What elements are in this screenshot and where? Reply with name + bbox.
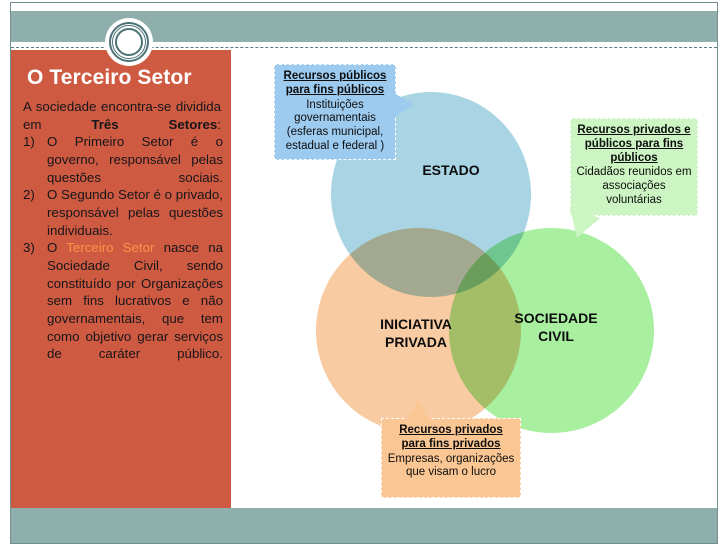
intro-paragraph: A sociedade encontra-se dividida em Três… bbox=[23, 98, 221, 133]
callout-recursos-publicos: Recursos públicos para fins públicos Ins… bbox=[274, 64, 396, 160]
circle-ornament-icon bbox=[105, 18, 153, 66]
callout-body: Cidadãos reunidos em associações voluntá… bbox=[575, 166, 693, 207]
ornament-ring-inner bbox=[115, 28, 143, 56]
list-item: 3)O Terceiro Setor nasce na Sociedade Ci… bbox=[21, 239, 223, 363]
list-item-marker: 2) bbox=[23, 186, 45, 204]
venn-label-line1: SOCIEDADE bbox=[481, 310, 631, 328]
callout-tail bbox=[394, 93, 414, 117]
venn-label-sociedade-civil: SOCIEDADE CIVIL bbox=[481, 310, 631, 345]
callout-heading: Recursos públicos para fins públicos bbox=[279, 70, 391, 98]
callout-body: Instituições governamentais (esferas mun… bbox=[279, 99, 391, 154]
page-title: O Terceiro Setor bbox=[27, 66, 223, 90]
intro-text-bold: Três Setores bbox=[91, 117, 217, 132]
intro-text-part2: : bbox=[217, 117, 221, 132]
venn-label-line2: CIVIL bbox=[481, 328, 631, 346]
list-item: 2)O Segundo Setor é o privado, responsáv… bbox=[21, 186, 223, 239]
list-item: 1)O Primeiro Setor é o governo, responsá… bbox=[21, 133, 223, 186]
list-item-text-pre: O bbox=[47, 240, 66, 255]
slide: O Terceiro Setor A sociedade encontra-se… bbox=[0, 0, 728, 546]
list-item-text-post: nasce na Sociedade Civil, sendo constitu… bbox=[47, 240, 223, 361]
callout-tail bbox=[406, 400, 430, 420]
callout-recursos-privados: Recursos privados para fins privados Emp… bbox=[381, 418, 521, 498]
venn-label-iniciativa-privada: INICIATIVA PRIVADA bbox=[341, 316, 491, 351]
venn-label-estado: ESTADO bbox=[391, 162, 511, 180]
list-item-text: O Segundo Setor é o privado, responsável… bbox=[47, 187, 223, 237]
list-item-marker: 3) bbox=[23, 239, 45, 257]
callout-recursos-privados-publicos: Recursos privados e públicos para fins p… bbox=[570, 118, 698, 216]
venn-label-line1: INICIATIVA bbox=[341, 316, 491, 334]
list-item-marker: 1) bbox=[23, 133, 45, 151]
callout-heading: Recursos privados e públicos para fins p… bbox=[575, 124, 693, 165]
sidebar-panel: O Terceiro Setor A sociedade encontra-se… bbox=[11, 50, 231, 508]
list-item-text: O Primeiro Setor é o governo, responsáve… bbox=[47, 134, 223, 184]
callout-heading: Recursos privados para fins privados bbox=[386, 424, 516, 452]
sector-list: 1)O Primeiro Setor é o governo, responsá… bbox=[21, 133, 223, 363]
venn-label-line2: PRIVADA bbox=[341, 334, 491, 352]
highlighted-term: Terceiro Setor bbox=[66, 240, 154, 255]
footer-band bbox=[11, 508, 717, 543]
callout-body: Empresas, organizações que visam o lucro bbox=[386, 453, 516, 481]
